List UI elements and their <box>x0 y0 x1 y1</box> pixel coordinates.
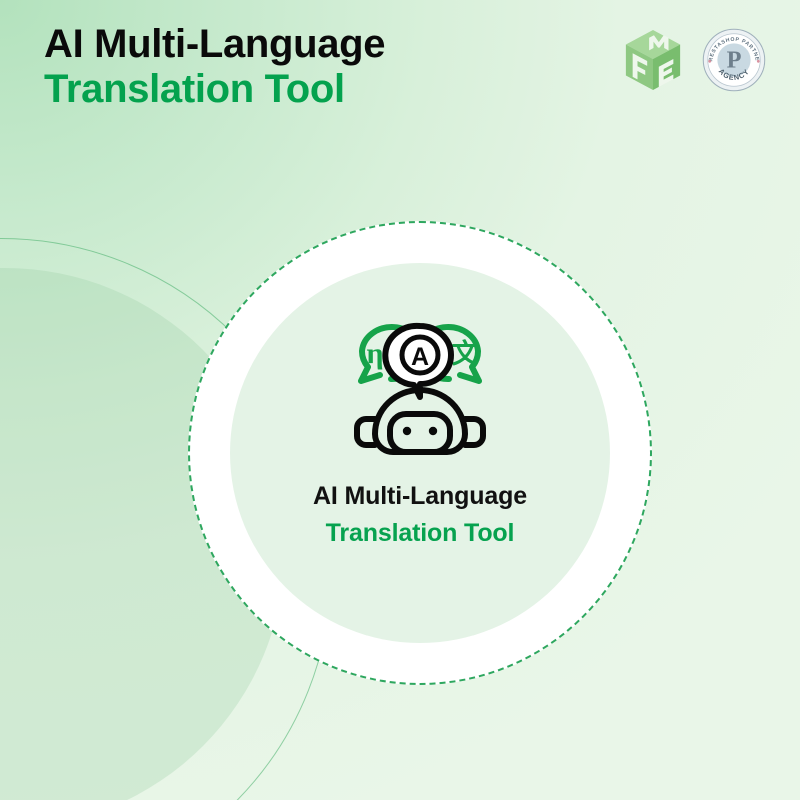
headline-line-2: Translation Tool <box>44 67 385 112</box>
page-title: AI Multi-Language Translation Tool <box>44 22 385 112</box>
brand-logo-group: P PRESTASHOP PARTNER AGENCY <box>622 28 766 92</box>
fme-logo-icon <box>622 28 684 92</box>
banner-header: AI Multi-Language Translation Tool <box>0 0 800 150</box>
card-title-line-2: Translation Tool <box>313 518 527 548</box>
robot-eye-right <box>429 427 437 435</box>
translation-robot-icon: η 文 A <box>335 319 505 467</box>
svg-text:P: P <box>727 47 742 74</box>
promo-banner: AI Multi-Language Translation Tool <box>0 0 800 800</box>
card-title: AI Multi-Language Translation Tool <box>313 481 527 548</box>
headline-line-1: AI Multi-Language <box>44 22 385 67</box>
card-content: η 文 A <box>230 263 610 643</box>
svg-text:η: η <box>366 337 383 370</box>
svg-text:文: 文 <box>452 338 480 370</box>
robot-eye-left <box>403 427 411 435</box>
svg-text:A: A <box>411 343 429 371</box>
card-title-line-1: AI Multi-Language <box>313 481 527 511</box>
prestashop-partner-badge-icon: P PRESTASHOP PARTNER AGENCY <box>702 28 766 92</box>
